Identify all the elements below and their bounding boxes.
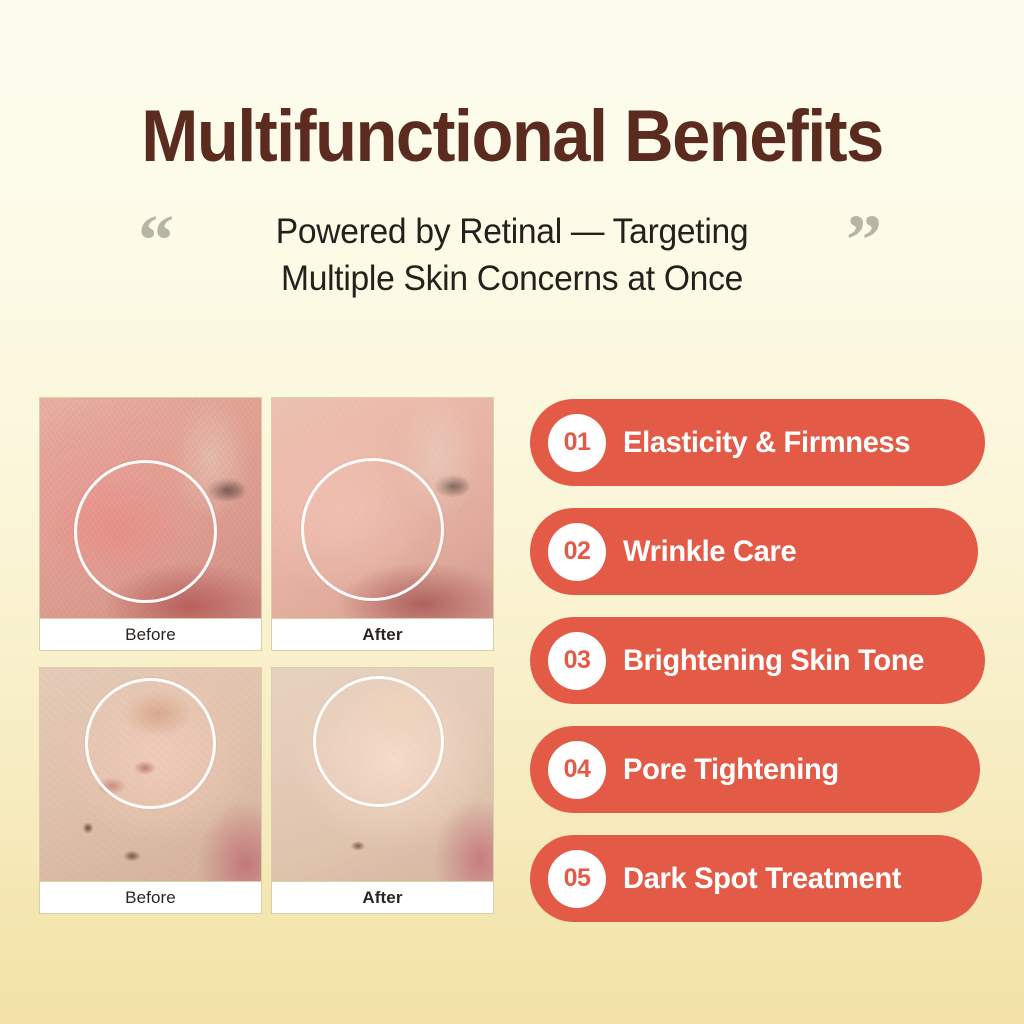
skin-photo-after bbox=[272, 398, 493, 618]
photo-caption-before: Before bbox=[40, 618, 261, 650]
header-section: Multifunctional Benefits “ ” Powered by … bbox=[0, 0, 1024, 302]
subtitle-line-1: Powered by Retinal — Targeting bbox=[147, 208, 877, 255]
photo-caption-before: Before bbox=[40, 881, 261, 913]
benefit-pill-03[interactable]: 03Brightening Skin Tone bbox=[530, 617, 985, 704]
page-title: Multifunctional Benefits bbox=[31, 95, 994, 178]
photo-caption-after: After bbox=[272, 881, 493, 913]
zoom-highlight-circle bbox=[313, 676, 444, 807]
zoom-highlight-circle bbox=[74, 460, 217, 603]
photo-card-after: After bbox=[271, 667, 494, 914]
poster-canvas: Multifunctional Benefits “ ” Powered by … bbox=[0, 0, 1024, 1024]
benefit-number-badge: 03 bbox=[548, 632, 606, 690]
photo-card-before: Before bbox=[39, 667, 262, 914]
before-after-grid: BeforeAfterBeforeAfter bbox=[39, 397, 495, 914]
photo-card-after: After bbox=[271, 397, 494, 651]
zoom-highlight-circle bbox=[85, 678, 216, 809]
benefit-pill-02[interactable]: 02Wrinkle Care bbox=[530, 508, 978, 595]
benefit-number-badge: 02 bbox=[548, 523, 606, 581]
benefit-label: Dark Spot Treatment bbox=[623, 862, 901, 896]
benefit-pill-04[interactable]: 04Pore Tightening bbox=[530, 726, 980, 813]
skin-photo-before bbox=[40, 668, 261, 881]
benefits-list: 01Elasticity & Firmness02Wrinkle Care03B… bbox=[530, 399, 985, 922]
skin-photo-before bbox=[40, 398, 261, 618]
blemish-comparison: BeforeAfter bbox=[39, 667, 495, 914]
subtitle-block: “ ” Powered by Retinal — Targeting Multi… bbox=[132, 208, 892, 302]
benefit-label: Pore Tightening bbox=[623, 753, 839, 787]
subtitle-line-2: Multiple Skin Concerns at Once bbox=[147, 255, 877, 302]
benefit-label: Brightening Skin Tone bbox=[623, 644, 924, 678]
benefit-pill-05[interactable]: 05Dark Spot Treatment bbox=[530, 835, 982, 922]
benefit-pill-01[interactable]: 01Elasticity & Firmness bbox=[530, 399, 985, 486]
skin-photo-after bbox=[272, 668, 493, 881]
redness-comparison: BeforeAfter bbox=[39, 397, 495, 651]
benefit-number-badge: 05 bbox=[548, 850, 606, 908]
photo-card-before: Before bbox=[39, 397, 262, 651]
photo-caption-after: After bbox=[272, 618, 493, 650]
benefit-number-badge: 01 bbox=[548, 414, 606, 472]
benefit-label: Wrinkle Care bbox=[623, 535, 796, 569]
benefit-number-badge: 04 bbox=[548, 741, 606, 799]
benefit-label: Elasticity & Firmness bbox=[623, 426, 910, 460]
zoom-highlight-circle bbox=[301, 458, 444, 601]
